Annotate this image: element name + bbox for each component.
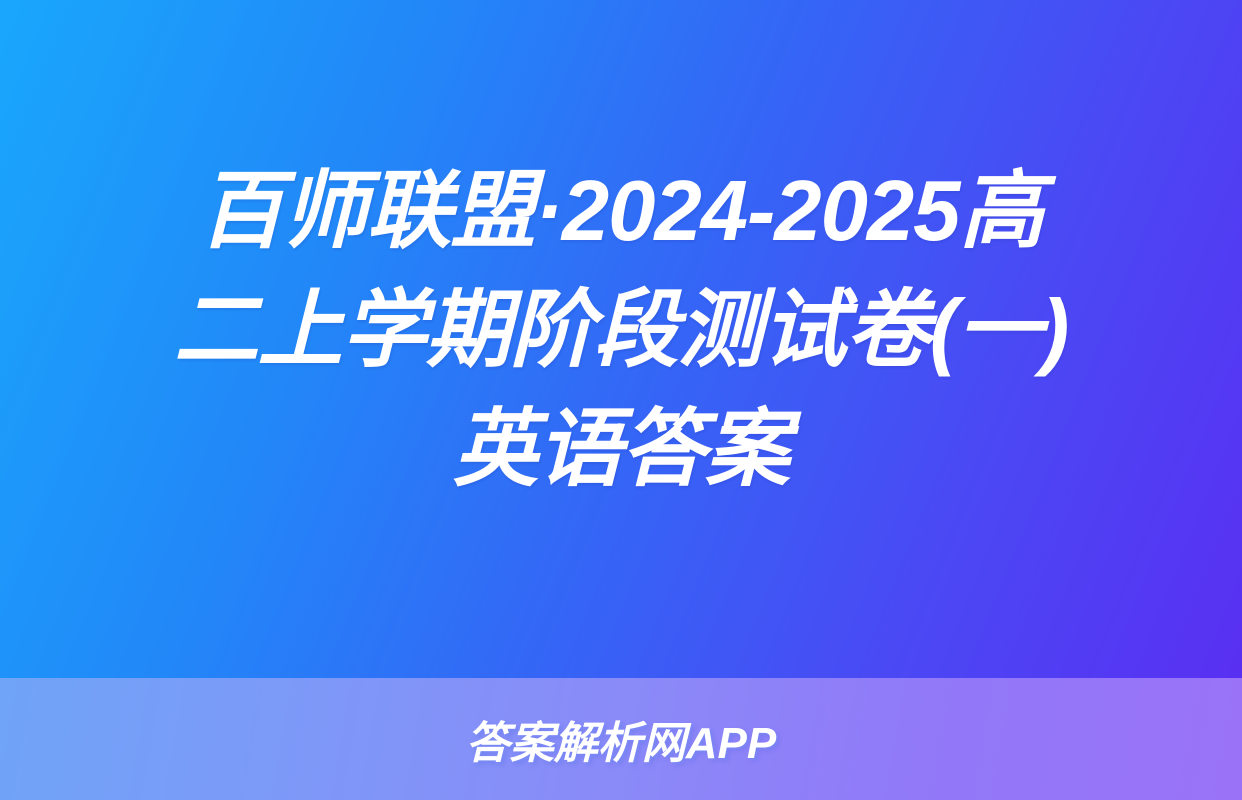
poster-canvas: 百师联盟·2024-2025高 二上学期阶段测试卷(一) 英语答案 答案解析网A… [0, 0, 1242, 800]
title-line-2: 二上学期阶段测试卷(一) [174, 271, 1069, 390]
app-watermark-label: 答案解析网APP [466, 707, 776, 771]
footer-watermark-band: 答案解析网APP [0, 678, 1242, 800]
title-line-3: 英语答案 [453, 390, 789, 509]
title-line-1: 百师联盟·2024-2025高 [199, 152, 1044, 271]
title-block: 百师联盟·2024-2025高 二上学期阶段测试卷(一) 英语答案 [0, 0, 1242, 678]
